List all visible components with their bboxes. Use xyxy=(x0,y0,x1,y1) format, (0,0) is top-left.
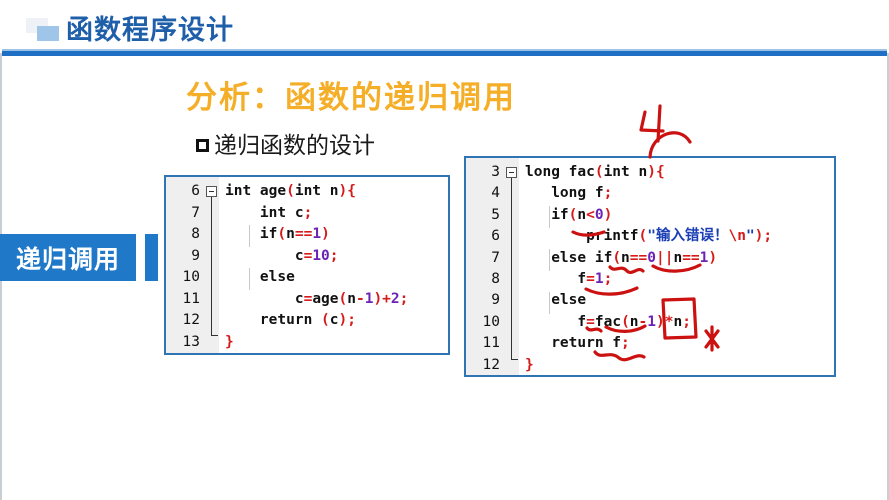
code-line: f=fac(n-1)*n; xyxy=(525,312,834,333)
code-line: if(n==1) xyxy=(225,224,448,246)
code-line: if(n<0) xyxy=(525,205,834,226)
line-number: 7 xyxy=(166,203,204,225)
code-line: return (c); xyxy=(225,310,448,332)
code-line: } xyxy=(525,355,834,376)
line-number: 8 xyxy=(166,224,204,246)
indent-guide xyxy=(249,225,250,247)
code-fold-toggle-icon[interactable] xyxy=(506,167,517,178)
section-tab-label: 递归调用 xyxy=(16,240,120,276)
line-number: 5 xyxy=(466,205,504,226)
code-line: long fac(int n){ xyxy=(525,162,834,183)
section-tab-recursive-call[interactable]: 递归调用 xyxy=(0,234,136,281)
line-number: 4 xyxy=(466,183,504,204)
line-number: 6 xyxy=(466,226,504,247)
code-line: f=1; xyxy=(525,269,834,290)
code-line: int c; xyxy=(225,203,448,225)
subtitle: 递归函数的设计 xyxy=(196,126,375,160)
code-left-text: int age(int n){ int c; if(n==1) c=10; el… xyxy=(219,177,448,353)
code-left-fold-column[interactable] xyxy=(204,177,219,353)
code-fold-line xyxy=(511,178,512,359)
line-number: 12 xyxy=(466,355,504,376)
code-right-text: long fac(int n){ long f; if(n<0) printf(… xyxy=(519,158,834,375)
header-squares-icon xyxy=(26,18,60,42)
square-bullet-icon xyxy=(196,139,209,152)
indent-guide xyxy=(549,206,550,228)
header-title: 函数程序设计 xyxy=(66,8,234,47)
code-line: c=10; xyxy=(225,246,448,268)
line-number: 9 xyxy=(166,246,204,268)
code-block-age: 6 7 8 9 10 11 12 13 int age(int n){ int … xyxy=(164,175,450,355)
line-number: 10 xyxy=(166,267,204,289)
code-fold-foot xyxy=(511,359,518,360)
annotation-curved-arrow xyxy=(650,133,690,157)
code-line: else xyxy=(225,267,448,289)
line-number: 10 xyxy=(466,312,504,333)
code-left-gutter: 6 7 8 9 10 11 12 13 xyxy=(166,177,204,353)
header-rule xyxy=(2,51,887,56)
line-number: 9 xyxy=(466,290,504,311)
code-line: long f; xyxy=(525,183,834,204)
code-right-gutter: 3 4 5 6 7 8 9 10 11 12 xyxy=(466,158,504,375)
code-fold-foot xyxy=(211,335,218,336)
line-number: 7 xyxy=(466,248,504,269)
code-fold-line xyxy=(211,197,212,335)
line-number: 12 xyxy=(166,310,204,332)
code-line: } xyxy=(225,332,448,354)
line-number: 11 xyxy=(166,289,204,311)
code-line: int age(int n){ xyxy=(225,181,448,203)
code-line: else if(n==0||n==1) xyxy=(525,248,834,269)
slide-header: 函数程序设计 xyxy=(0,0,889,53)
code-line: else xyxy=(525,290,834,311)
subtitle-label: 递归函数的设计 xyxy=(214,132,375,158)
line-number: 13 xyxy=(166,332,204,354)
line-number: 6 xyxy=(166,181,204,203)
line-number: 11 xyxy=(466,333,504,354)
indent-guide xyxy=(549,249,550,271)
code-line: printf("输入错误！\n"); xyxy=(525,226,834,247)
section-tab-accent-bar xyxy=(145,234,158,281)
annotation-digit-4-stroke1 xyxy=(641,112,663,131)
code-line: c=age(n-1)+2; xyxy=(225,289,448,311)
code-line: return f; xyxy=(525,333,834,354)
line-number: 8 xyxy=(466,269,504,290)
indent-guide xyxy=(549,292,550,314)
page-title: 分析：函数的递归调用 xyxy=(186,72,516,117)
code-right-fold-column[interactable] xyxy=(504,158,519,375)
code-fold-toggle-icon[interactable] xyxy=(206,186,217,197)
annotation-digit-4-stroke2 xyxy=(658,106,660,141)
line-number: 3 xyxy=(466,162,504,183)
indent-guide xyxy=(249,268,250,290)
slide-root: 函数程序设计 分析：函数的递归调用 递归函数的设计 递归调用 6 7 8 9 1… xyxy=(0,0,889,500)
code-block-fac: 3 4 5 6 7 8 9 10 11 12 long fac(int n){ … xyxy=(464,156,836,377)
square-front-icon xyxy=(37,26,59,41)
